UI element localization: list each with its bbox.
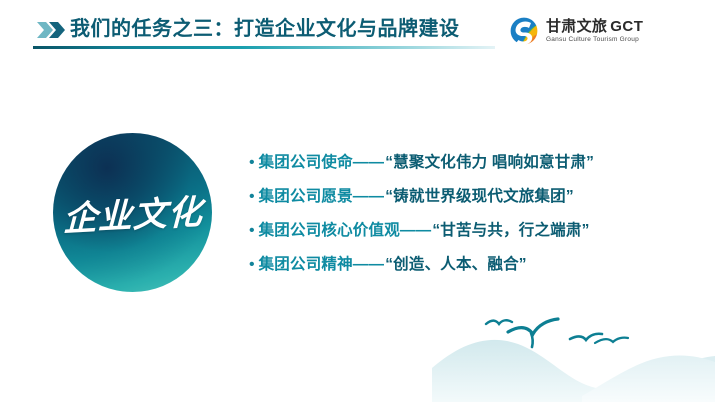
flying-birds-icon	[486, 319, 628, 347]
logo-name-cn-line: 甘肃文旅GCT	[546, 18, 643, 35]
bullet-list: • 集团公司使命—— “慧聚文化伟力 唱响如意甘肃” • 集团公司愿景—— “铸…	[249, 150, 689, 286]
bullet-lead-text: 集团公司愿景——	[259, 184, 385, 206]
bullet-dot-icon: •	[249, 189, 255, 205]
double-chevron-right-icon	[37, 22, 67, 38]
bullet-dot-icon: •	[249, 155, 255, 171]
bullet-quote-text: “甘苦与共，行之端肃”	[432, 218, 589, 240]
logo-name-cn: 甘肃文旅	[546, 18, 607, 35]
bullet-quote-text: “铸就世界级现代文旅集团”	[385, 184, 574, 206]
logo-name-en: Gansu Culture Tourism Group	[546, 35, 643, 44]
bullet-lead-text: 集团公司精神——	[259, 252, 385, 274]
gct-circular-logo-icon	[509, 16, 539, 46]
culture-circle-badge: 企业文化	[53, 133, 212, 292]
slide-canvas: 我们的任务之三：打造企业文化与品牌建设	[0, 0, 715, 402]
mountain-wave-icon	[432, 340, 715, 402]
brand-logo: 甘肃文旅GCT Gansu Culture Tourism Group	[509, 15, 643, 47]
bullet-lead-text: 集团公司核心价值观——	[259, 218, 432, 240]
culture-circle-label: 企业文化	[62, 184, 203, 240]
bullet-dot-icon: •	[249, 223, 255, 239]
slide-header: 我们的任务之三：打造企业文化与品牌建设	[0, 0, 715, 56]
logo-text-block: 甘肃文旅GCT Gansu Culture Tourism Group	[546, 18, 643, 44]
list-item: • 集团公司使命—— “慧聚文化伟力 唱响如意甘肃”	[249, 150, 689, 184]
logo-name-abbr: GCT	[610, 18, 643, 35]
list-item: • 集团公司精神—— “创造、人本、融合”	[249, 252, 689, 286]
bottom-decoration	[432, 300, 715, 402]
page-title: 我们的任务之三：打造企业文化与品牌建设	[70, 16, 460, 42]
list-item: • 集团公司愿景—— “铸就世界级现代文旅集团”	[249, 184, 689, 218]
list-item: • 集团公司核心价值观—— “甘苦与共，行之端肃”	[249, 218, 689, 252]
bullet-quote-text: “创造、人本、融合”	[385, 252, 527, 274]
bullet-dot-icon: •	[249, 257, 255, 273]
title-underline-rule	[33, 46, 495, 49]
bullet-quote-text: “慧聚文化伟力 唱响如意甘肃”	[385, 150, 594, 172]
bullet-lead-text: 集团公司使命——	[259, 150, 385, 172]
